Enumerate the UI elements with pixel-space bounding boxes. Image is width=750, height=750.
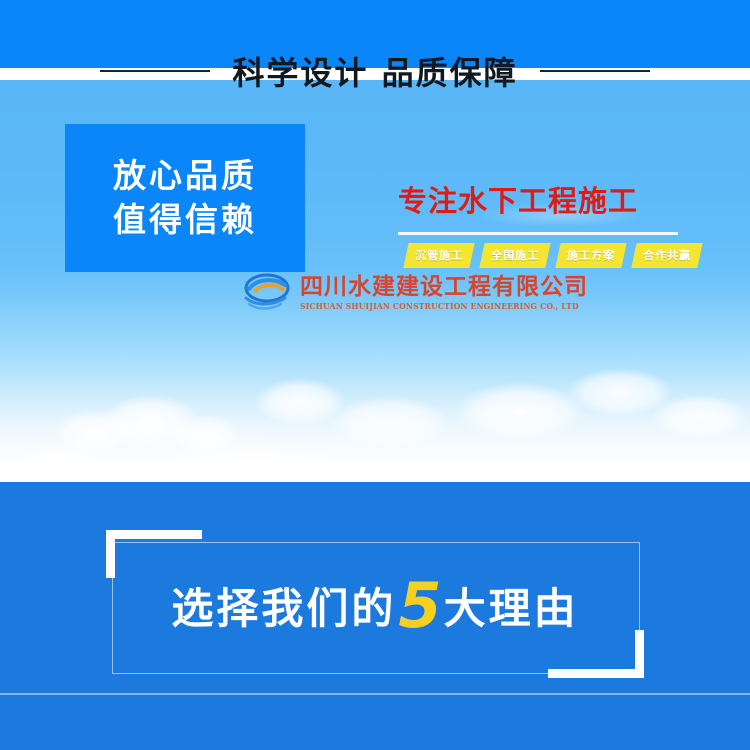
slogan-block: 专注水下工程施工 — [398, 178, 688, 235]
slogan-underline — [398, 232, 678, 235]
service-tag-label: 施工方案 — [567, 247, 615, 263]
headline-rule-right — [540, 70, 650, 72]
service-tag-label: 合作共赢 — [643, 247, 691, 263]
watermark-company-en: SICHUAN SHUIJIAN CONSTRUCTION ENGINEERIN… — [300, 301, 579, 311]
company-watermark: 四川水建建设工程有限公司 SICHUAN SHUIJIAN CONSTRUCTI… — [243, 272, 593, 314]
slogan-text: 专注水下工程施工 — [398, 178, 688, 220]
service-tag: 沉管施工 — [403, 243, 474, 268]
watermark-company-cn: 四川水建建设工程有限公司 — [300, 275, 593, 299]
corner-bracket-top-left — [106, 530, 202, 578]
quality-line-2: 值得信赖 — [113, 202, 257, 238]
headline-rule-left — [100, 70, 210, 72]
watermark-texts: 四川水建建设工程有限公司 SICHUAN SHUIJIAN CONSTRUCTI… — [300, 275, 593, 310]
service-tag-row: 沉管施工 全国施工 施工方案 合作共赢 — [406, 243, 700, 268]
corner-bracket-bottom-right — [548, 630, 644, 678]
wave-circle-logo-icon — [243, 272, 291, 314]
quality-callout-box: 放心品质 值得信赖 — [65, 124, 305, 272]
banner-hairline — [0, 693, 750, 695]
reason-title-prefix: 选择我们的 — [171, 584, 396, 633]
service-tag: 合作共赢 — [631, 243, 702, 268]
reason-title-suffix: 大理由 — [444, 584, 579, 633]
reason-title-number: 5 — [396, 569, 443, 642]
reason-title: 选择我们的5大理由 — [0, 575, 750, 636]
quality-line-1: 放心品质 — [113, 158, 257, 194]
service-tag: 全国施工 — [479, 243, 550, 268]
banner-headline: 科学设计 品质保障 — [0, 48, 750, 94]
service-tag: 施工方案 — [555, 243, 626, 268]
service-tag-label: 沉管施工 — [415, 247, 463, 263]
service-tag-label: 全国施工 — [491, 247, 539, 263]
headline-text: 科学设计 品质保障 — [232, 48, 517, 94]
